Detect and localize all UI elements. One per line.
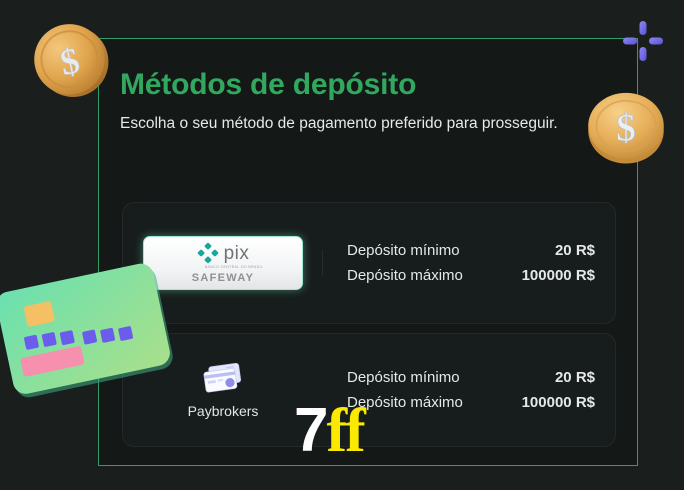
heading-block: Métodos de depósito Escolha o seu método… bbox=[120, 68, 590, 135]
page-subtitle: Escolha o seu método de pagamento prefer… bbox=[120, 113, 560, 135]
payment-method-card-paybrokers[interactable]: Paybrokers Depósito mínimo 20 R$ Depósit… bbox=[122, 333, 616, 447]
watermark-7ff: 7ff bbox=[294, 400, 364, 462]
pix-amounts: Depósito mínimo 20 R$ Depósito máximo 10… bbox=[323, 238, 615, 288]
max-deposit-label: Depósito máximo bbox=[347, 390, 463, 415]
max-deposit-value: 100000 R$ bbox=[522, 263, 595, 288]
gold-coin-dollar-icon: $ bbox=[24, 12, 119, 107]
pix-wordmark: pix bbox=[224, 244, 250, 263]
pix-safeway-label: SAFEWAY bbox=[192, 273, 254, 284]
svg-text:$: $ bbox=[616, 106, 636, 150]
table-row: Depósito máximo 100000 R$ bbox=[347, 390, 595, 415]
min-deposit-value: 20 R$ bbox=[555, 365, 595, 390]
pix-diamond-icon bbox=[197, 242, 219, 264]
pix-microtext: BANCO CENTRAL DO BRASIL bbox=[205, 266, 263, 270]
paybrokers-label: Paybrokers bbox=[188, 403, 259, 419]
max-deposit-label: Depósito máximo bbox=[347, 263, 463, 288]
payment-method-card-pix[interactable]: pix BANCO CENTRAL DO BRASIL SAFEWAY Depó… bbox=[122, 202, 616, 324]
gold-coin-dollar-icon: $ bbox=[584, 88, 668, 166]
min-deposit-value: 20 R$ bbox=[555, 238, 595, 263]
page-title: Métodos de depósito bbox=[120, 68, 590, 103]
paybrokers-logo-wrap: Paybrokers bbox=[188, 362, 259, 419]
pix-safeway-logo-tile: pix BANCO CENTRAL DO BRASIL SAFEWAY bbox=[143, 236, 303, 290]
watermark-digit: 7 bbox=[294, 396, 326, 465]
credit-card-icon bbox=[201, 362, 245, 396]
table-row: Depósito mínimo 20 R$ bbox=[347, 365, 595, 390]
max-deposit-value: 100000 R$ bbox=[522, 390, 595, 415]
paybrokers-amounts: Depósito mínimo 20 R$ Depósito máximo 10… bbox=[323, 365, 615, 415]
table-row: Depósito mínimo 20 R$ bbox=[347, 238, 595, 263]
min-deposit-label: Depósito mínimo bbox=[347, 238, 460, 263]
min-deposit-label: Depósito mínimo bbox=[347, 365, 460, 390]
purple-plus-sparkle-icon bbox=[622, 20, 664, 62]
pix-logo-row: pix bbox=[197, 242, 250, 264]
watermark-letters: ff bbox=[326, 397, 363, 465]
table-row: Depósito máximo 100000 R$ bbox=[347, 263, 595, 288]
